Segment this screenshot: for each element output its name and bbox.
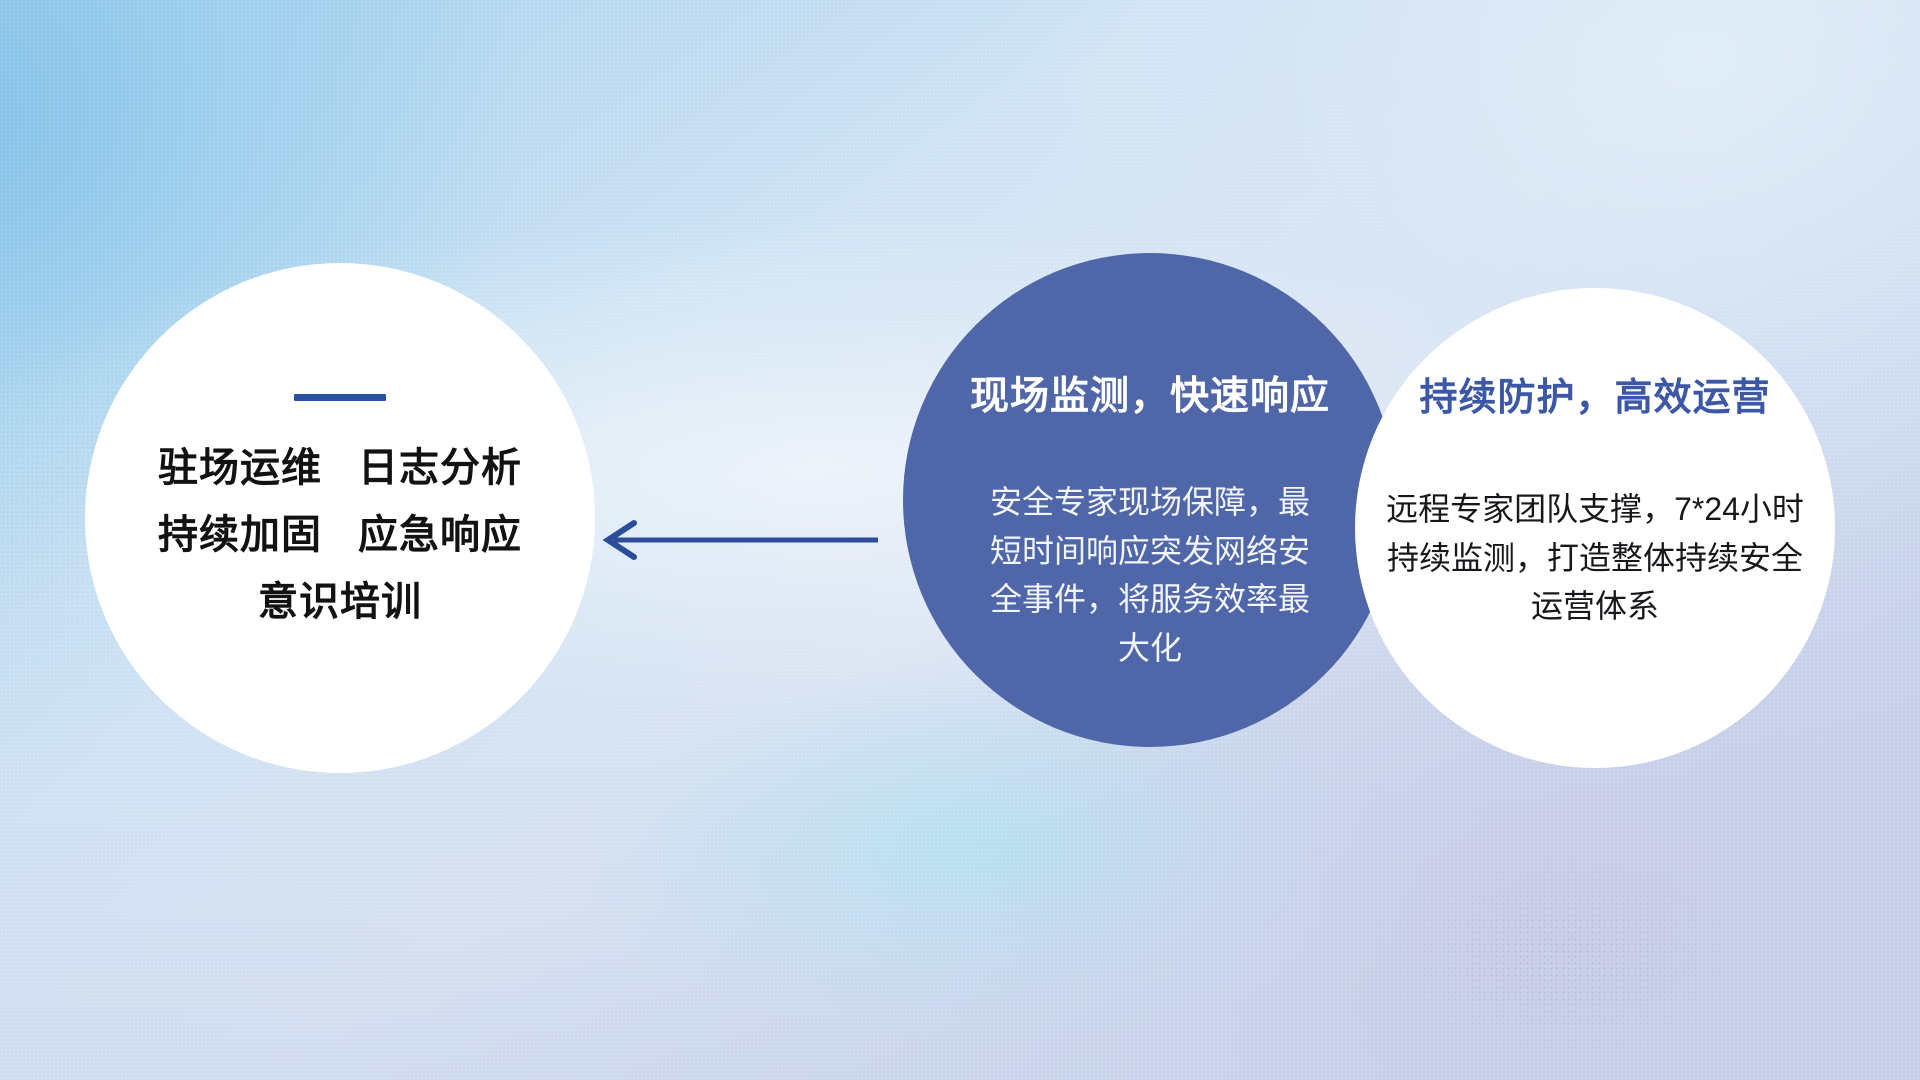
capability-tag[interactable]: 驻场运维 [158,447,322,489]
onsite-monitoring-bubble[interactable]: 现场监测，快速响应 安全专家现场保障，最短时间响应突发网络安全事件，将服务效率最… [903,253,1397,747]
capability-tags-bubble[interactable]: 驻场运维 日志分析 持续加固 应急响应 意识培训 [85,263,595,773]
diagram-stage: 驻场运维 日志分析 持续加固 应急响应 意识培训 现场监测，快速响应 安全专家现… [0,0,1920,1080]
left-pointing-arrow [590,505,880,575]
tag-row: 驻场运维 日志分析 [158,447,522,489]
capability-tag[interactable]: 意识培训 [258,581,422,623]
title-divider-dash [294,394,386,401]
capability-tag[interactable]: 应急响应 [358,514,522,556]
tag-row: 持续加固 应急响应 [158,514,522,556]
capability-tag[interactable]: 日志分析 [358,447,522,489]
capability-tag-list: 驻场运维 日志分析 持续加固 应急响应 意识培训 [85,447,595,623]
capability-tag[interactable]: 持续加固 [158,514,322,556]
continuous-protection-bubble[interactable]: 持续防护，高效运营 远程专家团队支撑，7*24小时持续监测，打造整体持续安全运营… [1355,288,1835,768]
tag-row: 意识培训 [258,581,422,623]
continuous-protection-body: 远程专家团队支撑，7*24小时持续监测，打造整体持续安全运营体系 [1385,485,1805,631]
continuous-protection-title: 持续防护，高效运营 [1419,366,1770,421]
onsite-monitoring-body: 安全专家现场保障，最短时间响应突发网络安全事件，将服务效率最大化 [985,478,1315,673]
onsite-monitoring-title: 现场监测，快速响应 [970,365,1330,421]
